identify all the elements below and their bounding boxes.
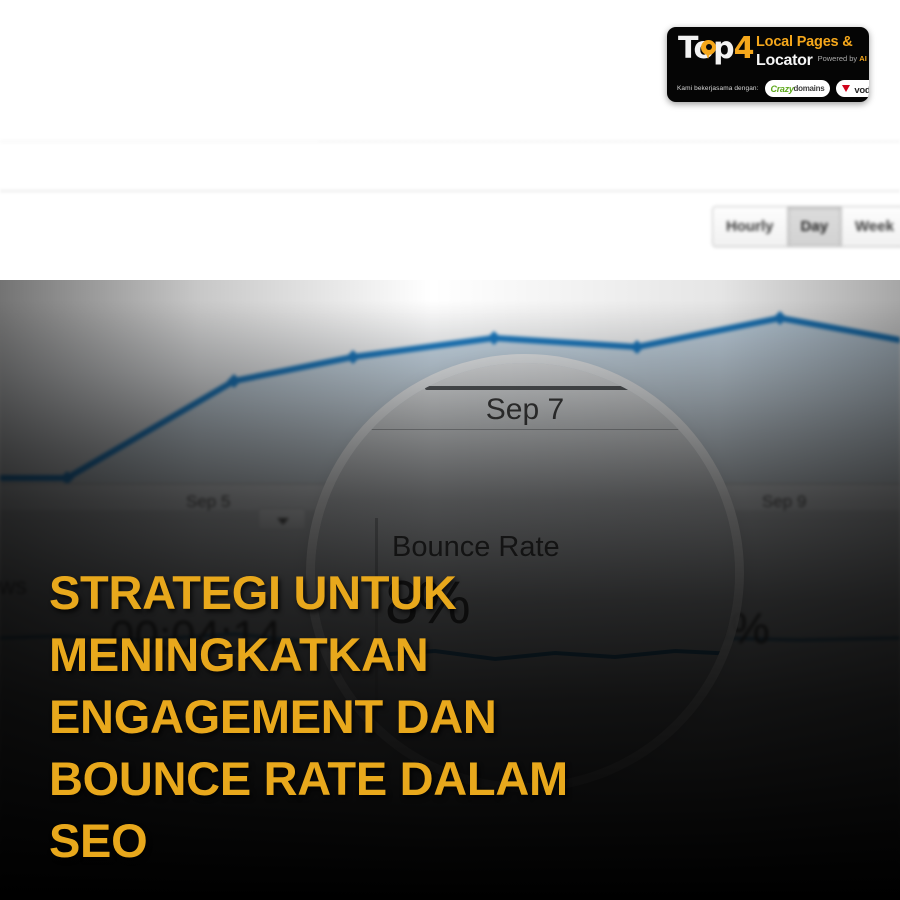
logo-tagline-block: Local Pages & Locator Powered by AI — [756, 34, 867, 69]
poster-headline: STRATEGI UNTUK MENINGKATKAN ENGAGEMENT D… — [49, 562, 689, 872]
logo-partners-row: Kami bekerjasama dengan: Crazydomains vo… — [667, 75, 869, 102]
crazydomains-word-domains: domains — [794, 84, 825, 93]
partner-label: Kami bekerjasama dengan: — [677, 85, 759, 92]
vodien-name: vodien — [854, 85, 869, 96]
headline-line-4: BOUNCE RATE DALAM — [49, 748, 689, 810]
poster-canvas: Hourly Day Week M — [0, 0, 900, 900]
logo-powered-by: Powered by AI — [818, 50, 867, 67]
location-pin-dot — [706, 44, 712, 50]
location-pin-icon — [701, 40, 716, 55]
partner-logo-crazydomains: Crazydomains — [765, 80, 831, 97]
powered-by-text: Powered by — [818, 54, 858, 63]
powered-by-ai: AI — [859, 54, 867, 63]
vodien-mark-icon — [842, 84, 851, 93]
crazydomains-word-crazy: Crazy — [771, 84, 794, 94]
headline-line-2: MENINGKATKAN — [49, 624, 689, 686]
headline-line-3: ENGAGEMENT DAN — [49, 686, 689, 748]
partner-logo-vodien: vodien — [836, 80, 869, 97]
headline-line-1: STRATEGI UNTUK — [49, 562, 689, 624]
vodien-text-block: vodien — [854, 80, 869, 98]
logo-word-four: 4 — [734, 31, 754, 66]
top4-wordmark: Top4 — [678, 34, 752, 68]
logo-tagline-line2-row: Locator Powered by AI — [756, 50, 867, 69]
logo-tagline-line2: Locator — [756, 52, 813, 69]
logo-tagline-line1: Local Pages & — [756, 34, 867, 50]
logo-primary-row: Top4 Local Pages & Locator Powered by AI — [667, 27, 869, 75]
headline-line-5: SEO — [49, 810, 689, 872]
top4-logo-badge: Top4 Local Pages & Locator Powered by AI… — [667, 27, 869, 102]
